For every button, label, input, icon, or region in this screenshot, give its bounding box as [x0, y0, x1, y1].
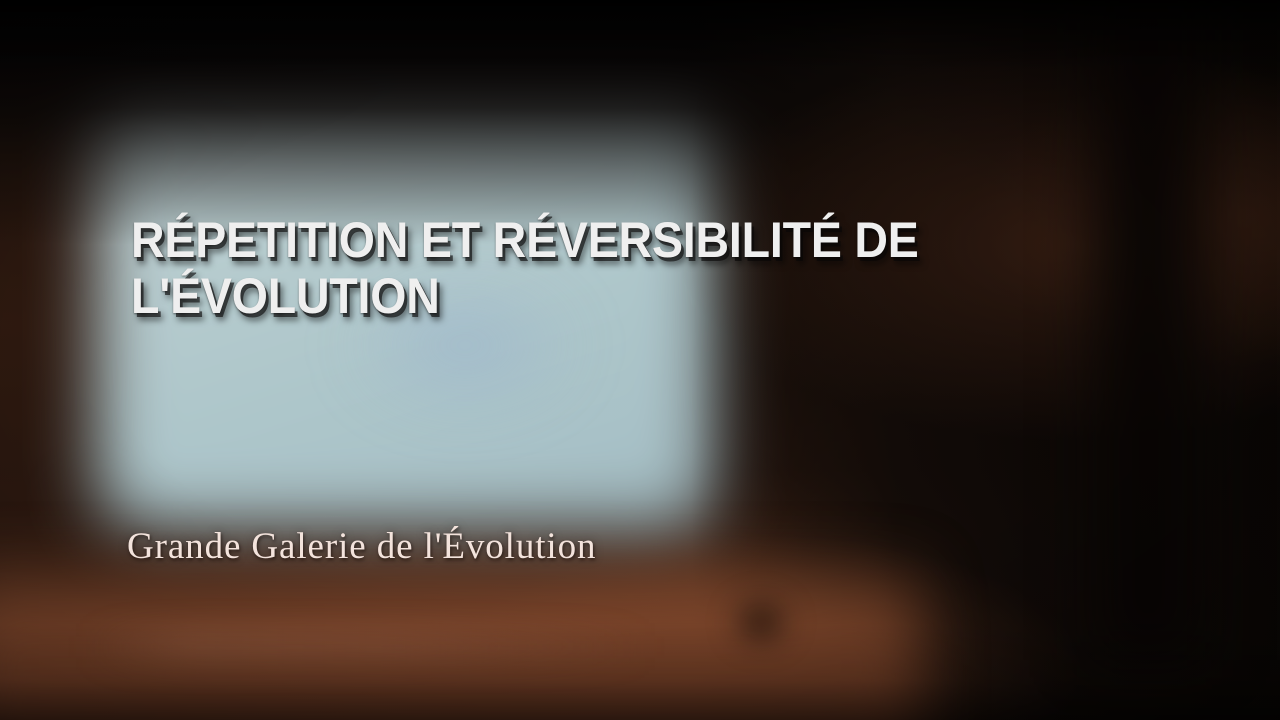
title-text-group: RÉPETITION ET RÉVERSIBILITÉ DE L'ÉVOLUTI… [0, 0, 1280, 720]
slide-subtitle: Grande Galerie de l'Évolution [127, 525, 596, 569]
title-card-slide: RÉPETITION ET RÉVERSIBILITÉ DE L'ÉVOLUTI… [0, 0, 1280, 720]
slide-title: RÉPETITION ET RÉVERSIBILITÉ DE L'ÉVOLUTI… [131, 212, 1061, 324]
